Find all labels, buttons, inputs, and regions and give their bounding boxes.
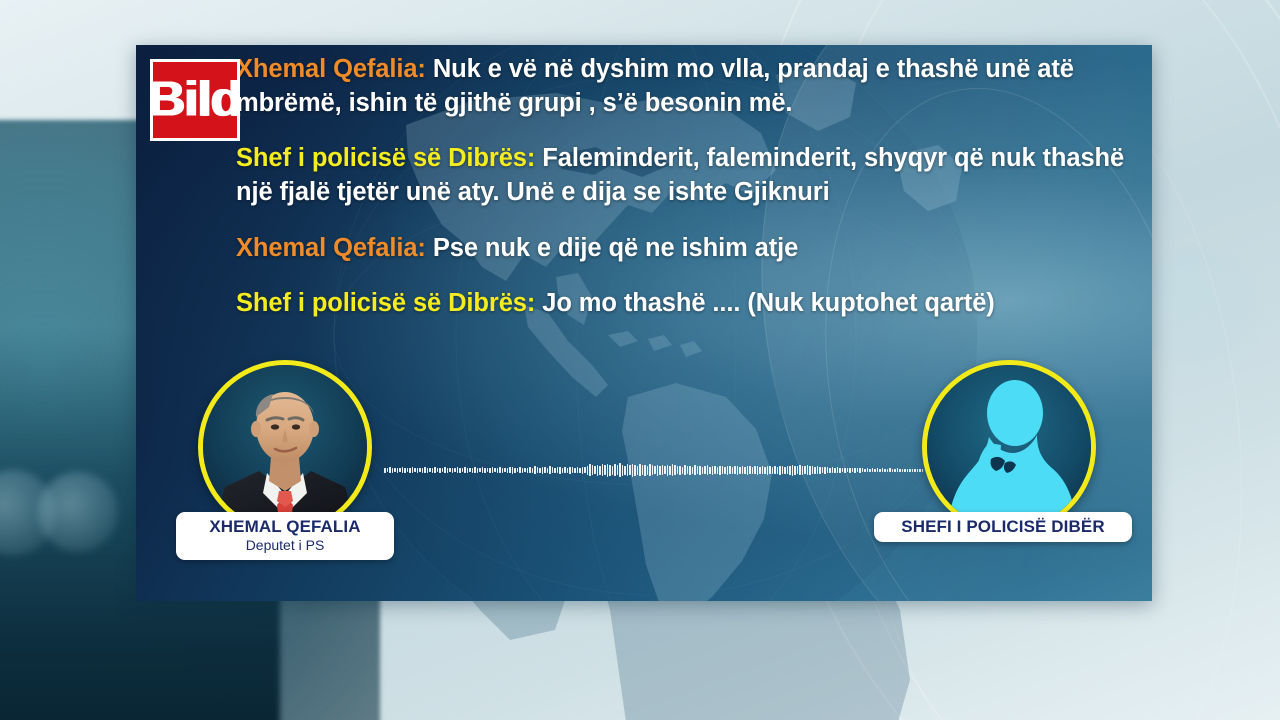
waveform-bar xyxy=(432,468,434,473)
waveform-bar xyxy=(719,466,721,475)
waveform-bar xyxy=(632,464,634,477)
waveform-bar xyxy=(554,468,556,473)
waveform-bar xyxy=(397,468,399,473)
waveform-bar xyxy=(802,466,804,475)
avatar xyxy=(922,360,1096,534)
transcript-line: Xhemal Qefalia: Pse nuk e dije që ne ish… xyxy=(236,232,1128,266)
waveform-bar xyxy=(617,465,619,475)
waveform-bar xyxy=(654,466,656,474)
waveform-bar xyxy=(614,464,616,476)
waveform-bar xyxy=(399,468,401,472)
waveform-bar xyxy=(894,469,896,472)
waveform-bar xyxy=(387,468,389,472)
waveform-bar xyxy=(572,467,574,473)
waveform-bar xyxy=(804,466,806,474)
waveform-bar xyxy=(582,467,584,474)
waveform-bar xyxy=(757,466,759,475)
audio-waveform xyxy=(384,459,924,481)
waveform-bar xyxy=(729,466,731,474)
waveform-bar xyxy=(427,468,429,473)
waveform-bar xyxy=(442,468,444,472)
waveform-bar xyxy=(714,466,716,474)
waveform-bar xyxy=(569,467,571,474)
waveform-bar xyxy=(682,467,684,474)
waveform-bar xyxy=(884,469,886,472)
waveform-bar xyxy=(542,467,544,474)
waveform-bar xyxy=(412,467,414,473)
transcript-speaker-label: Shef i policisë së Dibrës: xyxy=(236,144,535,172)
waveform-bar xyxy=(889,468,891,472)
transcript-speaker-label: Shef i policisë së Dibrës: xyxy=(236,289,535,317)
waveform-bar xyxy=(384,468,386,473)
waveform-bar xyxy=(467,468,469,473)
waveform-bar xyxy=(717,467,719,474)
waveform-bar xyxy=(849,468,851,473)
waveform-bar xyxy=(407,468,409,472)
waveform-bar xyxy=(642,465,644,475)
waveform-bar xyxy=(724,467,726,474)
waveform-bar xyxy=(487,468,489,472)
waveform-bar xyxy=(657,465,659,476)
waveform-bar xyxy=(707,465,709,475)
waveform-bar xyxy=(887,469,889,472)
speaker-card-left: XHEMAL QEFALIA Deputet i PS xyxy=(198,360,372,534)
waveform-bar xyxy=(727,466,729,475)
waveform-bar xyxy=(897,468,899,472)
waveform-bar xyxy=(464,467,466,473)
waveform-bar xyxy=(589,464,591,476)
waveform-bar xyxy=(454,468,456,472)
waveform-bar xyxy=(909,469,911,472)
waveform-bar xyxy=(619,463,621,477)
waveform-bar xyxy=(767,466,769,475)
waveform-bar xyxy=(774,466,776,474)
waveform-bar xyxy=(762,466,764,474)
avatar xyxy=(198,360,372,534)
waveform-bar xyxy=(524,468,526,472)
waveform-bar xyxy=(769,466,771,474)
waveform-bar xyxy=(782,466,784,474)
waveform-bar xyxy=(489,468,491,473)
waveform-bar xyxy=(904,469,906,472)
waveform-bar xyxy=(749,466,751,474)
waveform-bar xyxy=(622,465,624,476)
waveform-bar xyxy=(647,466,649,475)
news-graphic-stage: Bild Xhemal Qefalia: Nuk e vë në dyshim … xyxy=(0,0,1280,720)
waveform-bar xyxy=(637,466,639,475)
speaker-subtitle: Deputet i PS xyxy=(190,537,380,554)
waveform-bar xyxy=(627,464,629,476)
waveform-bar xyxy=(824,467,826,474)
waveform-bar xyxy=(914,469,916,472)
waveform-bar xyxy=(534,466,536,474)
waveform-bar xyxy=(792,465,794,476)
waveform-bar xyxy=(594,466,596,474)
waveform-bar xyxy=(667,465,669,476)
waveform-bar xyxy=(839,468,841,473)
waveform-bar xyxy=(504,468,506,472)
waveform-bar xyxy=(827,467,829,473)
waveform-bar xyxy=(599,466,601,475)
waveform-bar xyxy=(722,466,724,474)
waveform-bar xyxy=(852,468,854,472)
waveform-bar xyxy=(794,466,796,475)
waveform-bar xyxy=(459,468,461,473)
waveform-bar xyxy=(482,467,484,473)
waveform-bar xyxy=(519,467,521,473)
waveform-bar xyxy=(492,467,494,473)
waveform-bar xyxy=(812,466,814,474)
waveform-bar xyxy=(754,466,756,474)
waveform-bar xyxy=(429,468,431,472)
transcript-line: Shef i policisë së Dibrës: Jo mo thashë … xyxy=(236,287,1128,321)
waveform-bar xyxy=(877,468,879,472)
waveform-bar xyxy=(664,466,666,474)
waveform-bar xyxy=(902,469,904,472)
waveform-bar xyxy=(659,466,661,475)
waveform-bar xyxy=(709,467,711,474)
nameplate-right: SHEFI I POLICISË DIBËR xyxy=(874,512,1132,542)
waveform-bar xyxy=(882,468,884,472)
transcript-quote-text: Pse nuk e dije që ne ishim atje xyxy=(433,234,798,262)
waveform-bar xyxy=(912,469,914,472)
waveform-bar xyxy=(457,467,459,473)
waveform-bar xyxy=(712,466,714,475)
waveform-bar xyxy=(417,468,419,473)
waveform-bar xyxy=(859,468,861,473)
waveform-bar xyxy=(394,468,396,472)
news-panel: Bild Xhemal Qefalia: Nuk e vë në dyshim … xyxy=(136,45,1152,601)
waveform-bar xyxy=(527,468,529,473)
waveform-bar xyxy=(842,468,844,472)
waveform-bar xyxy=(437,468,439,472)
waveform-bar xyxy=(854,468,856,473)
waveform-bar xyxy=(684,465,686,475)
waveform-bar xyxy=(649,464,651,476)
waveform-bar xyxy=(587,466,589,475)
waveform-bar xyxy=(734,466,736,474)
waveform-bar xyxy=(469,468,471,472)
waveform-bar xyxy=(512,467,514,474)
waveform-bar xyxy=(422,468,424,473)
waveform-bar xyxy=(662,465,664,475)
waveform-bar xyxy=(639,464,641,476)
speaker-name: SHEFI I POLICISË DIBËR xyxy=(888,517,1118,536)
waveform-bar xyxy=(549,466,551,474)
waveform-bar xyxy=(507,468,509,473)
waveform-bar xyxy=(814,467,816,474)
waveform-bar xyxy=(779,466,781,475)
waveform-bar xyxy=(867,468,869,472)
waveform-bar xyxy=(652,465,654,475)
waveform-bar xyxy=(477,468,479,473)
waveform-bar xyxy=(739,467,741,474)
waveform-bar xyxy=(672,464,674,476)
waveform-bar xyxy=(837,467,839,473)
waveform-bar xyxy=(772,467,774,474)
waveform-bar xyxy=(629,465,631,475)
transcript-speaker-label: Xhemal Qefalia: xyxy=(236,234,426,262)
waveform-bar xyxy=(844,468,846,473)
transcript-speaker-label: Xhemal Qefalia: xyxy=(236,55,426,83)
waveform-bar xyxy=(694,465,696,475)
waveform-bar xyxy=(604,465,606,475)
waveform-bar xyxy=(607,464,609,477)
nameplate-left: XHEMAL QEFALIA Deputet i PS xyxy=(176,512,394,560)
waveform-bar xyxy=(547,468,549,473)
waveform-bar xyxy=(579,468,581,473)
waveform-bar xyxy=(822,467,824,473)
waveform-bar xyxy=(697,466,699,474)
waveform-bar xyxy=(472,468,474,473)
waveform-bar xyxy=(462,468,464,472)
waveform-bar xyxy=(522,468,524,473)
waveform-bar xyxy=(552,467,554,473)
waveform-bar xyxy=(789,466,791,475)
waveform-bar xyxy=(499,467,501,473)
waveform-bar xyxy=(564,467,566,473)
waveform-bar xyxy=(409,468,411,473)
waveform-bar xyxy=(539,468,541,473)
waveform-bar xyxy=(752,467,754,474)
waveform-bar xyxy=(404,468,406,473)
speaker-card-right: SHEFI I POLICISË DIBËR xyxy=(922,360,1096,534)
waveform-bar xyxy=(892,469,894,472)
waveform-bar xyxy=(679,466,681,475)
waveform-bar xyxy=(907,469,909,472)
waveform-bar xyxy=(517,468,519,472)
waveform-bar xyxy=(862,468,864,472)
waveform-bar xyxy=(474,467,476,473)
waveform-bar xyxy=(864,469,866,472)
waveform-bar xyxy=(502,468,504,473)
waveform-bar xyxy=(832,467,834,473)
waveform-bar xyxy=(704,466,706,474)
waveform-bar xyxy=(869,469,871,472)
waveform-bar xyxy=(447,468,449,473)
waveform-bar xyxy=(424,467,426,473)
waveform-bar xyxy=(744,467,746,474)
waveform-bar xyxy=(787,466,789,474)
waveform-bar xyxy=(544,467,546,473)
background-bokeh-circle xyxy=(38,472,118,552)
waveform-bar xyxy=(449,468,451,472)
waveform-bar xyxy=(917,469,919,472)
waveform-bar xyxy=(602,464,604,476)
speaker-name: XHEMAL QEFALIA xyxy=(190,517,380,536)
waveform-bar xyxy=(777,467,779,474)
waveform-bar xyxy=(797,466,799,474)
waveform-bar xyxy=(817,466,819,474)
waveform-bar xyxy=(874,469,876,472)
waveform-bar xyxy=(567,468,569,473)
waveform-bar xyxy=(494,468,496,472)
waveform-bar xyxy=(389,467,391,473)
waveform-bar xyxy=(732,467,734,474)
waveform-bar xyxy=(452,468,454,473)
bild-logo-text: Bild xyxy=(148,75,241,124)
waveform-bar xyxy=(402,467,404,473)
waveform-bar xyxy=(872,468,874,472)
waveform-bar xyxy=(847,468,849,472)
transcript-list: Xhemal Qefalia: Nuk e vë në dyshim mo vl… xyxy=(236,53,1128,343)
waveform-bar xyxy=(537,467,539,473)
waveform-bar xyxy=(577,467,579,473)
waveform-bar xyxy=(392,468,394,473)
waveform-bar xyxy=(532,468,534,473)
waveform-bar xyxy=(644,465,646,476)
waveform-bar xyxy=(414,468,416,472)
waveform-bar xyxy=(919,469,921,472)
waveform-bar xyxy=(584,467,586,473)
waveform-bar xyxy=(784,467,786,474)
waveform-bar xyxy=(562,468,564,473)
waveform-bar xyxy=(609,465,611,476)
waveform-bar xyxy=(444,467,446,473)
waveform-bar xyxy=(574,468,576,473)
waveform-bar xyxy=(634,465,636,476)
waveform-bar xyxy=(597,465,599,476)
waveform-bar xyxy=(702,467,704,474)
waveform-bar xyxy=(419,468,421,472)
waveform-bar xyxy=(509,467,511,473)
waveform-bar xyxy=(879,469,881,472)
waveform-bar xyxy=(484,468,486,473)
waveform-bar xyxy=(669,466,671,475)
waveform-bar xyxy=(759,467,761,474)
waveform-bar xyxy=(742,466,744,474)
waveform-bar xyxy=(764,467,766,474)
waveform-bar xyxy=(747,466,749,475)
waveform-bar xyxy=(434,467,436,473)
waveform-bar xyxy=(687,466,689,474)
waveform-bar xyxy=(497,468,499,473)
waveform-bar xyxy=(514,468,516,473)
waveform-bar xyxy=(699,466,701,475)
waveform-bar xyxy=(819,467,821,474)
transcript-line: Xhemal Qefalia: Nuk e vë në dyshim mo vl… xyxy=(236,53,1128,120)
transcript-line: Shef i policisë së Dibrës: Faleminderit,… xyxy=(236,142,1128,209)
waveform-bar xyxy=(479,468,481,472)
waveform-bar xyxy=(829,468,831,473)
transcript-quote-text: Jo mo thashë .... (Nuk kuptohet qartë) xyxy=(542,289,994,317)
waveform-bar xyxy=(529,467,531,473)
waveform-bar xyxy=(612,466,614,475)
waveform-bar xyxy=(624,466,626,475)
waveform-bar xyxy=(899,469,901,472)
waveform-bar xyxy=(737,466,739,475)
waveform-bar xyxy=(834,468,836,473)
waveform-bar xyxy=(439,468,441,473)
waveform-bar xyxy=(677,466,679,474)
waveform-bar xyxy=(557,467,559,473)
waveform-bar xyxy=(689,466,691,475)
waveform-bar xyxy=(559,467,561,474)
waveform-bar xyxy=(674,465,676,475)
waveform-bar xyxy=(799,465,801,475)
waveform-bar xyxy=(807,465,809,475)
bild-logo: Bild xyxy=(150,59,240,141)
waveform-bar xyxy=(592,465,594,475)
waveform-bar xyxy=(692,467,694,474)
waveform-bar xyxy=(857,468,859,472)
waveform-bar xyxy=(809,466,811,475)
